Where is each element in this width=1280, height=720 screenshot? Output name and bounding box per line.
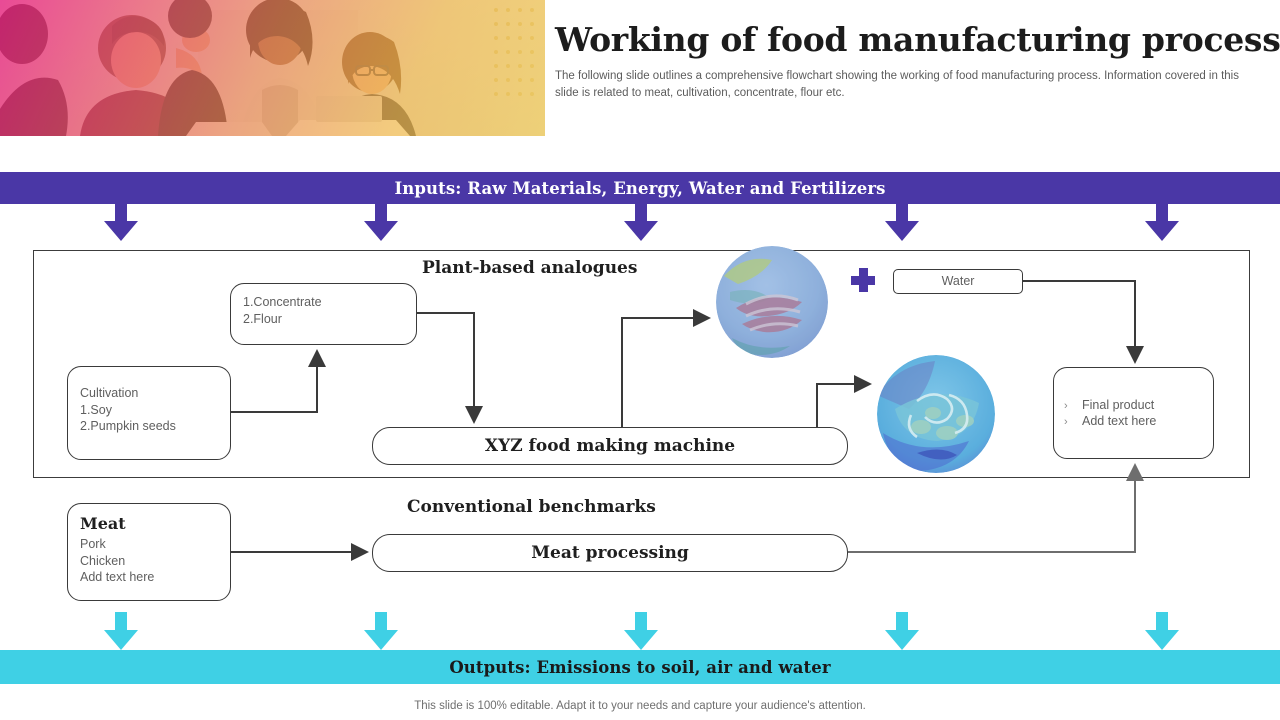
plant-based-heading: Plant-based analogues xyxy=(422,258,637,278)
page-title: Working of food manufacturing process xyxy=(555,22,1255,58)
inputs-arrow-row xyxy=(0,203,1280,243)
output-arrow-3 xyxy=(624,612,658,650)
input-arrow-5 xyxy=(1145,203,1179,241)
concentrate-line-1: 1.Concentrate xyxy=(243,294,404,311)
connector-processing-to-final-product xyxy=(848,466,1135,552)
outputs-band-label: Outputs: Emissions to soil, air and wate… xyxy=(449,658,830,677)
inputs-band-label: Inputs: Raw Materials, Energy, Water and… xyxy=(394,179,885,198)
input-arrow-4 xyxy=(885,203,919,241)
water-label: Water xyxy=(942,273,975,290)
meat-line-1: Pork xyxy=(80,536,218,553)
cultivation-line-2: 1.Soy xyxy=(80,402,218,419)
page-subtitle: The following slide outlines a comprehen… xyxy=(555,68,1250,101)
node-concentrate-flour[interactable]: 1.Concentrate 2.Flour xyxy=(230,283,417,345)
input-arrow-1 xyxy=(104,203,138,241)
hero-photo xyxy=(0,0,545,136)
machine-label: XYZ food making machine xyxy=(485,436,735,456)
input-arrow-2 xyxy=(364,203,398,241)
cultivation-line-3: 2.Pumpkin seeds xyxy=(80,418,218,435)
final-product-bullet-list: ›Final product ›Add text here xyxy=(1054,397,1156,429)
plant-based-food-circle-image xyxy=(716,246,828,358)
output-arrow-1 xyxy=(104,612,138,650)
title-block: Working of food manufacturing process Th… xyxy=(555,22,1255,101)
prepared-bowl-circle-image xyxy=(877,355,995,473)
node-water[interactable]: Water xyxy=(893,269,1023,294)
input-arrow-3 xyxy=(624,203,658,241)
output-arrow-5 xyxy=(1145,612,1179,650)
meat-line-2: Chicken xyxy=(80,553,218,570)
final-product-bullet-1: Final product xyxy=(1082,397,1154,413)
node-final-product[interactable]: ›Final product ›Add text here xyxy=(1053,367,1214,459)
slide-header: Working of food manufacturing process Th… xyxy=(0,0,1280,140)
meat-processing-label: Meat processing xyxy=(531,543,689,563)
node-xyz-food-making-machine[interactable]: XYZ food making machine xyxy=(372,427,848,465)
outputs-arrow-row xyxy=(0,612,1280,652)
hero-gradient-overlay xyxy=(0,0,545,136)
plus-icon xyxy=(851,268,875,292)
list-item: ›Add text here xyxy=(1064,413,1156,429)
footer-note: This slide is 100% editable. Adapt it to… xyxy=(0,700,1280,712)
inputs-band: Inputs: Raw Materials, Energy, Water and… xyxy=(0,172,1280,204)
node-cultivation[interactable]: Cultivation 1.Soy 2.Pumpkin seeds xyxy=(67,366,231,460)
concentrate-line-2: 2.Flour xyxy=(243,311,404,328)
cultivation-line-1: Cultivation xyxy=(80,385,218,402)
output-arrow-4 xyxy=(885,612,919,650)
chevron-right-icon: › xyxy=(1064,399,1082,413)
final-product-bullet-2: Add text here xyxy=(1082,413,1156,429)
meat-line-3: Add text here xyxy=(80,569,218,586)
list-item: ›Final product xyxy=(1064,397,1156,413)
meat-title: Meat xyxy=(80,514,218,533)
conventional-benchmarks-heading: Conventional benchmarks xyxy=(407,497,656,517)
outputs-band: Outputs: Emissions to soil, air and wate… xyxy=(0,650,1280,684)
node-meat-processing[interactable]: Meat processing xyxy=(372,534,848,572)
output-arrow-2 xyxy=(364,612,398,650)
chevron-right-icon: › xyxy=(1064,415,1082,429)
node-meat[interactable]: Meat Pork Chicken Add text here xyxy=(67,503,231,601)
